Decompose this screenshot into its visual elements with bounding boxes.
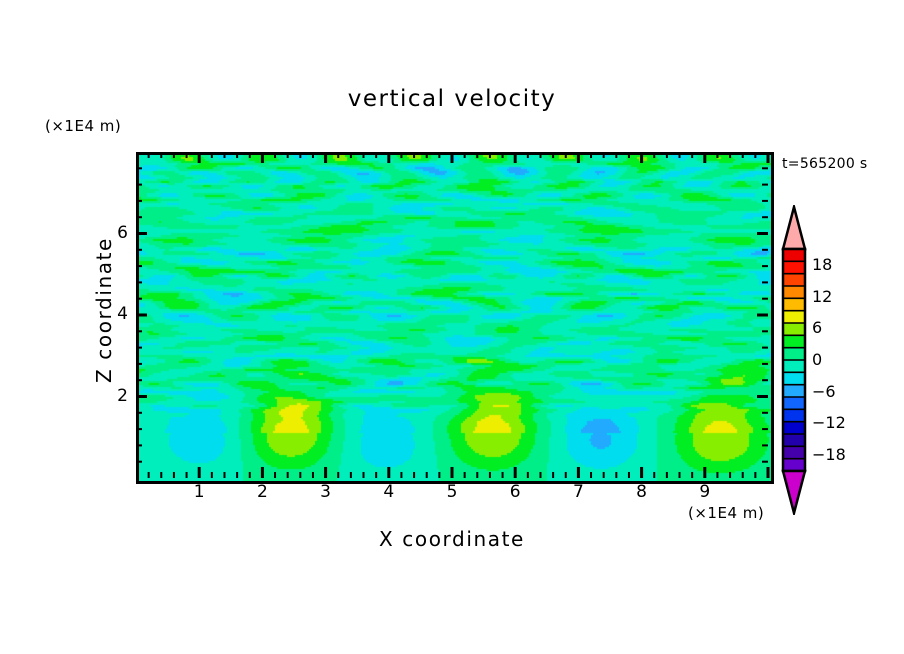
x-tick-label: 5 — [437, 482, 467, 502]
x-tick-label: 9 — [690, 482, 720, 502]
time-annotation: t=565200 s — [782, 156, 867, 172]
colorbar-tick-label: −18 — [812, 445, 846, 464]
colorbar — [781, 205, 807, 515]
y-axis-unit-label: (×1E4 m) — [45, 117, 121, 135]
y-tick-label: 6 — [98, 223, 128, 243]
x-tick-label: 8 — [627, 482, 657, 502]
colorbar-tick-label: 12 — [812, 287, 832, 306]
plot-title: vertical velocity — [0, 86, 904, 112]
x-axis-unit-label: (×1E4 m) — [688, 504, 764, 522]
colorbar-tick-label: 18 — [812, 255, 832, 274]
x-tick-label: 2 — [247, 482, 277, 502]
colorbar-tick-label: −12 — [812, 413, 846, 432]
figure-canvas: vertical velocity (×1E4 m) (×1E4 m) X co… — [0, 0, 904, 654]
colorbar-tick-label: −6 — [812, 382, 836, 401]
x-tick-label: 6 — [500, 482, 530, 502]
colorbar-gradient — [781, 205, 807, 515]
contour-field — [139, 155, 771, 481]
x-tick-label: 4 — [374, 482, 404, 502]
contour-plot-area — [136, 152, 774, 484]
x-axis-title: X coordinate — [136, 527, 768, 551]
colorbar-tick-label: 6 — [812, 318, 822, 337]
x-tick-label: 1 — [184, 482, 214, 502]
y-tick-label: 2 — [98, 386, 128, 406]
colorbar-tick-label: 0 — [812, 350, 822, 369]
y-tick-label: 4 — [98, 304, 128, 324]
x-tick-label: 3 — [311, 482, 341, 502]
x-tick-label: 7 — [563, 482, 593, 502]
